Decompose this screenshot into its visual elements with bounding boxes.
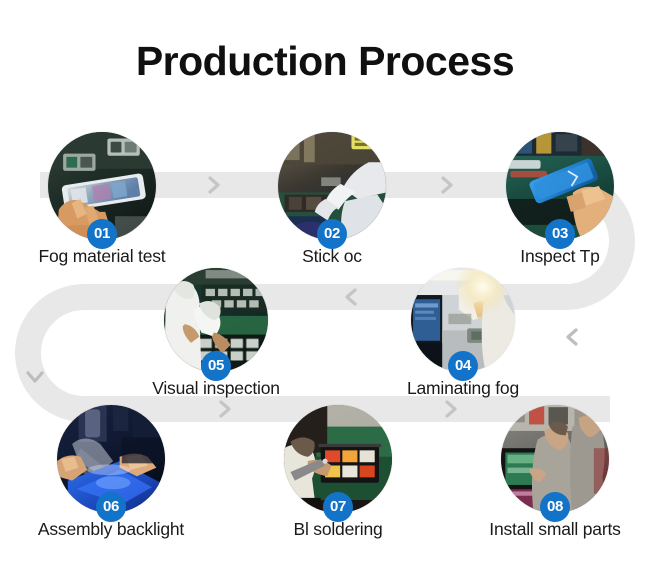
- arrow-01-to-02: [203, 174, 225, 196]
- step-02-badge: 02: [317, 219, 347, 249]
- process-step-07[interactable]: 07 Bl soldering: [253, 405, 423, 540]
- process-step-06[interactable]: 06 Assembly backlight: [26, 405, 196, 540]
- step-05-label: Visual inspection: [131, 378, 301, 399]
- process-step-05[interactable]: 05 Visual inspection: [131, 268, 301, 399]
- step-07-label: Bl soldering: [253, 519, 423, 540]
- step-04-badge: 04: [448, 351, 478, 381]
- arrow-06-to-07: [214, 398, 236, 420]
- process-step-08[interactable]: 08 Install small parts: [470, 405, 640, 540]
- step-06-badge: 06: [96, 492, 126, 522]
- step-07-photo-wrap: 07: [284, 405, 392, 513]
- step-05-badge: 05: [201, 351, 231, 381]
- process-step-02[interactable]: 02 Stick oc: [247, 132, 417, 267]
- step-07-badge: 07: [323, 492, 353, 522]
- step-02-photo-wrap: 02: [278, 132, 386, 240]
- step-01-label: Fog material test: [17, 246, 187, 267]
- step-08-label: Install small parts: [470, 519, 640, 540]
- step-01-photo-wrap: 01: [48, 132, 156, 240]
- step-03-photo-wrap: 03: [506, 132, 614, 240]
- process-step-04[interactable]: 04 Laminating fog: [378, 268, 548, 399]
- process-step-03[interactable]: 03 Inspect Tp: [475, 132, 645, 267]
- step-08-badge: 08: [540, 492, 570, 522]
- step-01-badge: 01: [87, 219, 117, 249]
- process-step-01[interactable]: 01 Fog material test: [17, 132, 187, 267]
- step-06-photo-wrap: 06: [57, 405, 165, 513]
- arrow-02-to-03: [436, 174, 458, 196]
- arrow-07-to-08: [440, 398, 462, 420]
- arrow-03-to-04: [561, 326, 583, 348]
- arrow-05-to-06: [24, 366, 46, 388]
- production-process-infographic: Production Process: [0, 0, 650, 584]
- page-title: Production Process: [0, 38, 650, 85]
- step-03-label: Inspect Tp: [475, 246, 645, 267]
- arrow-04-to-05: [340, 286, 362, 308]
- step-03-badge: 03: [545, 219, 575, 249]
- step-02-label: Stick oc: [247, 246, 417, 267]
- step-04-label: Laminating fog: [378, 378, 548, 399]
- step-05-photo-wrap: 05: [164, 268, 268, 372]
- step-04-photo-wrap: 04: [411, 268, 515, 372]
- step-06-label: Assembly backlight: [26, 519, 196, 540]
- step-08-photo-wrap: 08: [501, 405, 609, 513]
